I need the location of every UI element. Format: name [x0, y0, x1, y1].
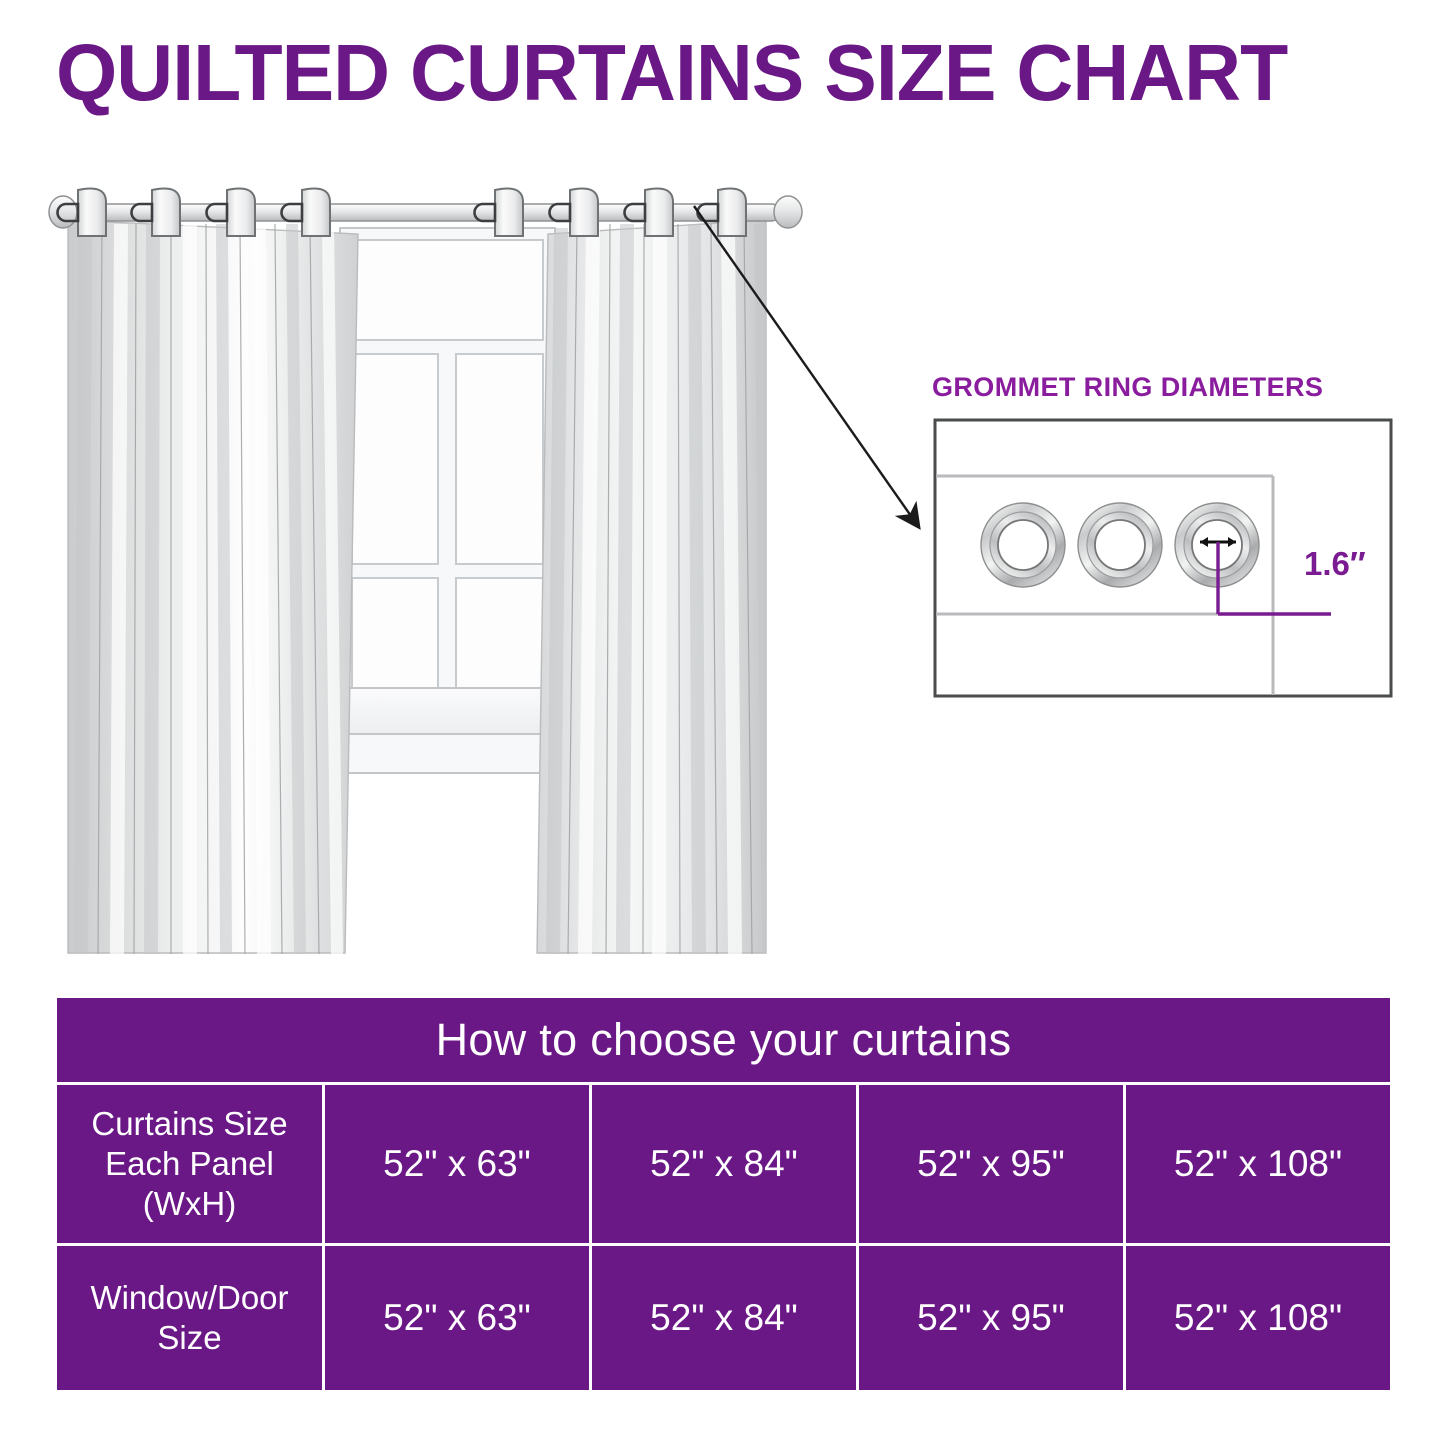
cell-window-size-2: 52" x 84"	[592, 1246, 856, 1390]
grommet-detail-heading: GROMMET RING DIAMETERS	[932, 372, 1323, 403]
size-chart-page: QUILTED CURTAINS SIZE CHART	[0, 0, 1445, 1445]
row-label-text: Window/Door Size	[90, 1278, 288, 1359]
rod-finial-left	[49, 196, 77, 228]
cell-panel-size-1: 52" x 63"	[325, 1085, 589, 1243]
grommet-ring-1	[981, 503, 1065, 587]
table-row: Window/Door Size 52" x 63" 52" x 84" 52"…	[57, 1246, 1390, 1390]
rod-finial-right	[774, 196, 802, 228]
cell-window-size-1: 52" x 63"	[325, 1246, 589, 1390]
curtain-panel-left	[68, 220, 358, 954]
cell-panel-size-2: 52" x 84"	[592, 1085, 856, 1243]
cell-panel-size-3: 52" x 95"	[859, 1085, 1123, 1243]
table-header: How to choose your curtains	[57, 998, 1390, 1082]
row-label-curtains-size: Curtains Size Each Panel (WxH)	[57, 1085, 322, 1243]
cell-panel-size-4: 52" x 108"	[1126, 1085, 1390, 1243]
curtain-panel-right	[537, 220, 766, 954]
cell-window-size-4: 52" x 108"	[1126, 1246, 1390, 1390]
grommet-detail-panel: GROMMET RING DIAMETERS	[900, 360, 1410, 720]
cell-window-size-3: 52" x 95"	[859, 1246, 1123, 1390]
curtain-illustration	[40, 168, 820, 968]
size-table: How to choose your curtains Curtains Siz…	[57, 998, 1390, 1390]
row-label-text: Curtains Size Each Panel (WxH)	[91, 1104, 287, 1225]
page-title: QUILTED CURTAINS SIZE CHART	[56, 34, 1376, 112]
table-row: Curtains Size Each Panel (WxH) 52" x 63"…	[57, 1085, 1390, 1243]
window-behind-curtains	[340, 228, 555, 773]
grommet-dimension-label: 1.6″	[1304, 545, 1366, 583]
grommet-ring-2	[1078, 503, 1162, 587]
row-label-window-door-size: Window/Door Size	[57, 1246, 322, 1390]
